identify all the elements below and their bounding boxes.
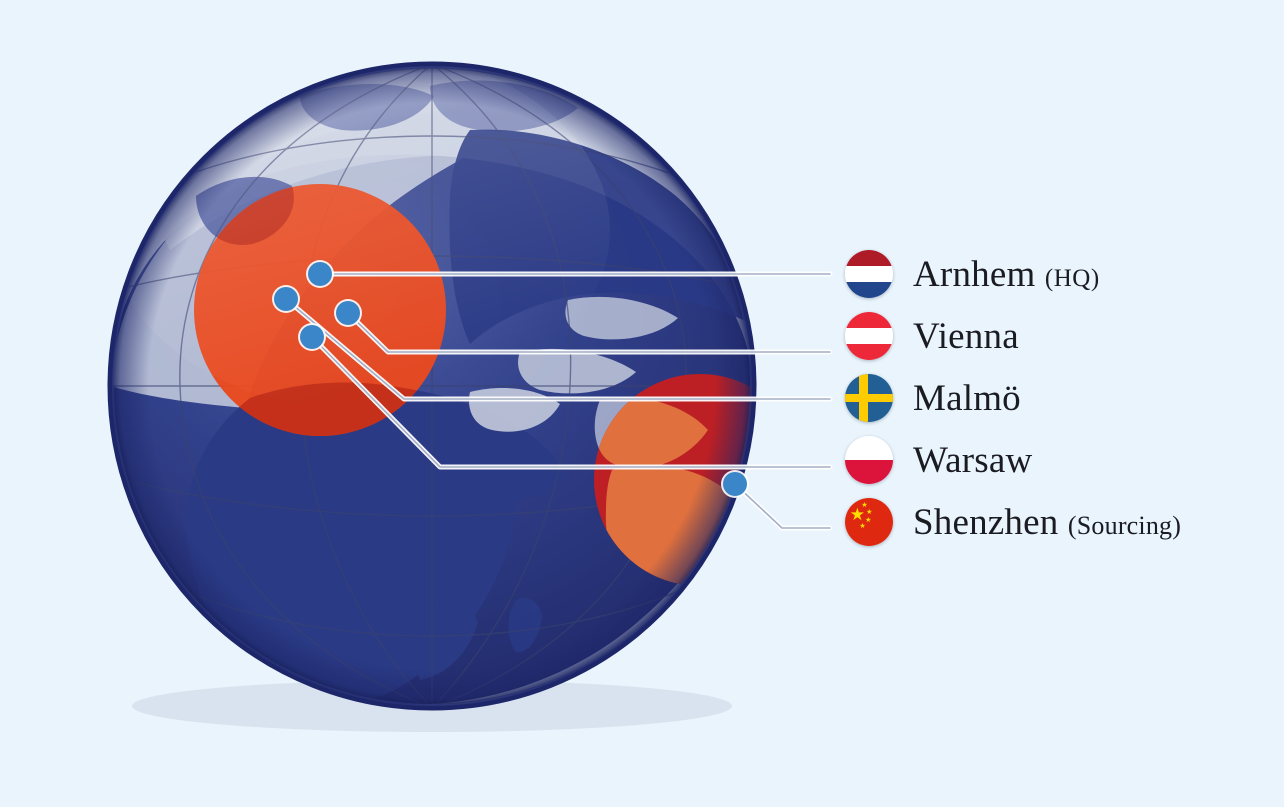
- legend-item-arnhem[interactable]: Arnhem (HQ): [845, 243, 1275, 305]
- globe-locations-infographic: Arnhem (HQ)ViennaMalmöWarsaw★★★★★Shenzhe…: [0, 0, 1284, 807]
- leader-warsaw: [312, 337, 830, 467]
- legend-item-warsaw[interactable]: Warsaw: [845, 429, 1275, 491]
- leader-malmo-hairline: [286, 299, 830, 399]
- legend-item-shenzhen[interactable]: ★★★★★Shenzhen (Sourcing): [845, 491, 1275, 553]
- netherlands-flag-icon: [845, 250, 893, 298]
- marker-vienna[interactable]: [336, 301, 360, 325]
- legend-item-vienna[interactable]: Vienna: [845, 305, 1275, 367]
- flag-stripe: [845, 312, 893, 328]
- legend-city-note: (HQ): [1045, 265, 1100, 292]
- legend-city-name: Shenzhen: [913, 502, 1058, 543]
- legend-label-vienna: Vienna: [913, 318, 1019, 355]
- legend-city-name: Vienna: [913, 316, 1019, 357]
- leader-shenzhen: [735, 484, 830, 528]
- legend-city-name: Arnhem: [913, 254, 1035, 295]
- legend-city-name: Malmö: [913, 378, 1021, 419]
- leader-lines-group: [286, 274, 830, 528]
- marker-shenzhen[interactable]: [723, 472, 747, 496]
- flag-star-icon: ★: [859, 523, 865, 530]
- marker-malmo[interactable]: [274, 287, 298, 311]
- leader-shenzhen-hairline: [735, 484, 830, 528]
- austria-flag-icon: [845, 312, 893, 360]
- legend-label-arnhem: Arnhem (HQ): [913, 256, 1100, 293]
- leader-vienna-hairline: [348, 313, 830, 352]
- flag-stripe: [845, 436, 893, 460]
- legend-label-warsaw: Warsaw: [913, 442, 1032, 479]
- marker-warsaw[interactable]: [300, 325, 324, 349]
- legend-city-note: (Sourcing): [1068, 511, 1181, 540]
- legend-item-malmo[interactable]: Malmö: [845, 367, 1275, 429]
- poland-flag-icon: [845, 436, 893, 484]
- flag-stripe: [845, 250, 893, 266]
- legend-city-name: Warsaw: [913, 440, 1032, 481]
- sweden-flag-icon: [845, 374, 893, 422]
- flag-stripe: [845, 460, 893, 484]
- marker-arnhem[interactable]: [308, 262, 332, 286]
- flag-cross-horizontal: [845, 394, 893, 403]
- city-markers-group: [272, 260, 749, 498]
- flag-star-icon: ★: [865, 517, 871, 524]
- legend-label-shenzhen: Shenzhen (Sourcing): [913, 504, 1181, 541]
- leader-vienna: [348, 313, 830, 352]
- china-flag-icon: ★★★★★: [845, 498, 893, 546]
- flag-star-icon: ★: [866, 509, 872, 516]
- locations-legend: Arnhem (HQ)ViennaMalmöWarsaw★★★★★Shenzhe…: [845, 243, 1275, 553]
- flag-stripe: [845, 328, 893, 344]
- legend-label-malmo: Malmö: [913, 380, 1021, 417]
- flag-stripe: [845, 344, 893, 360]
- leader-malmo: [286, 299, 830, 399]
- leader-warsaw-hairline: [312, 337, 830, 467]
- flag-stripe: [845, 282, 893, 298]
- flag-stripe: [845, 266, 893, 282]
